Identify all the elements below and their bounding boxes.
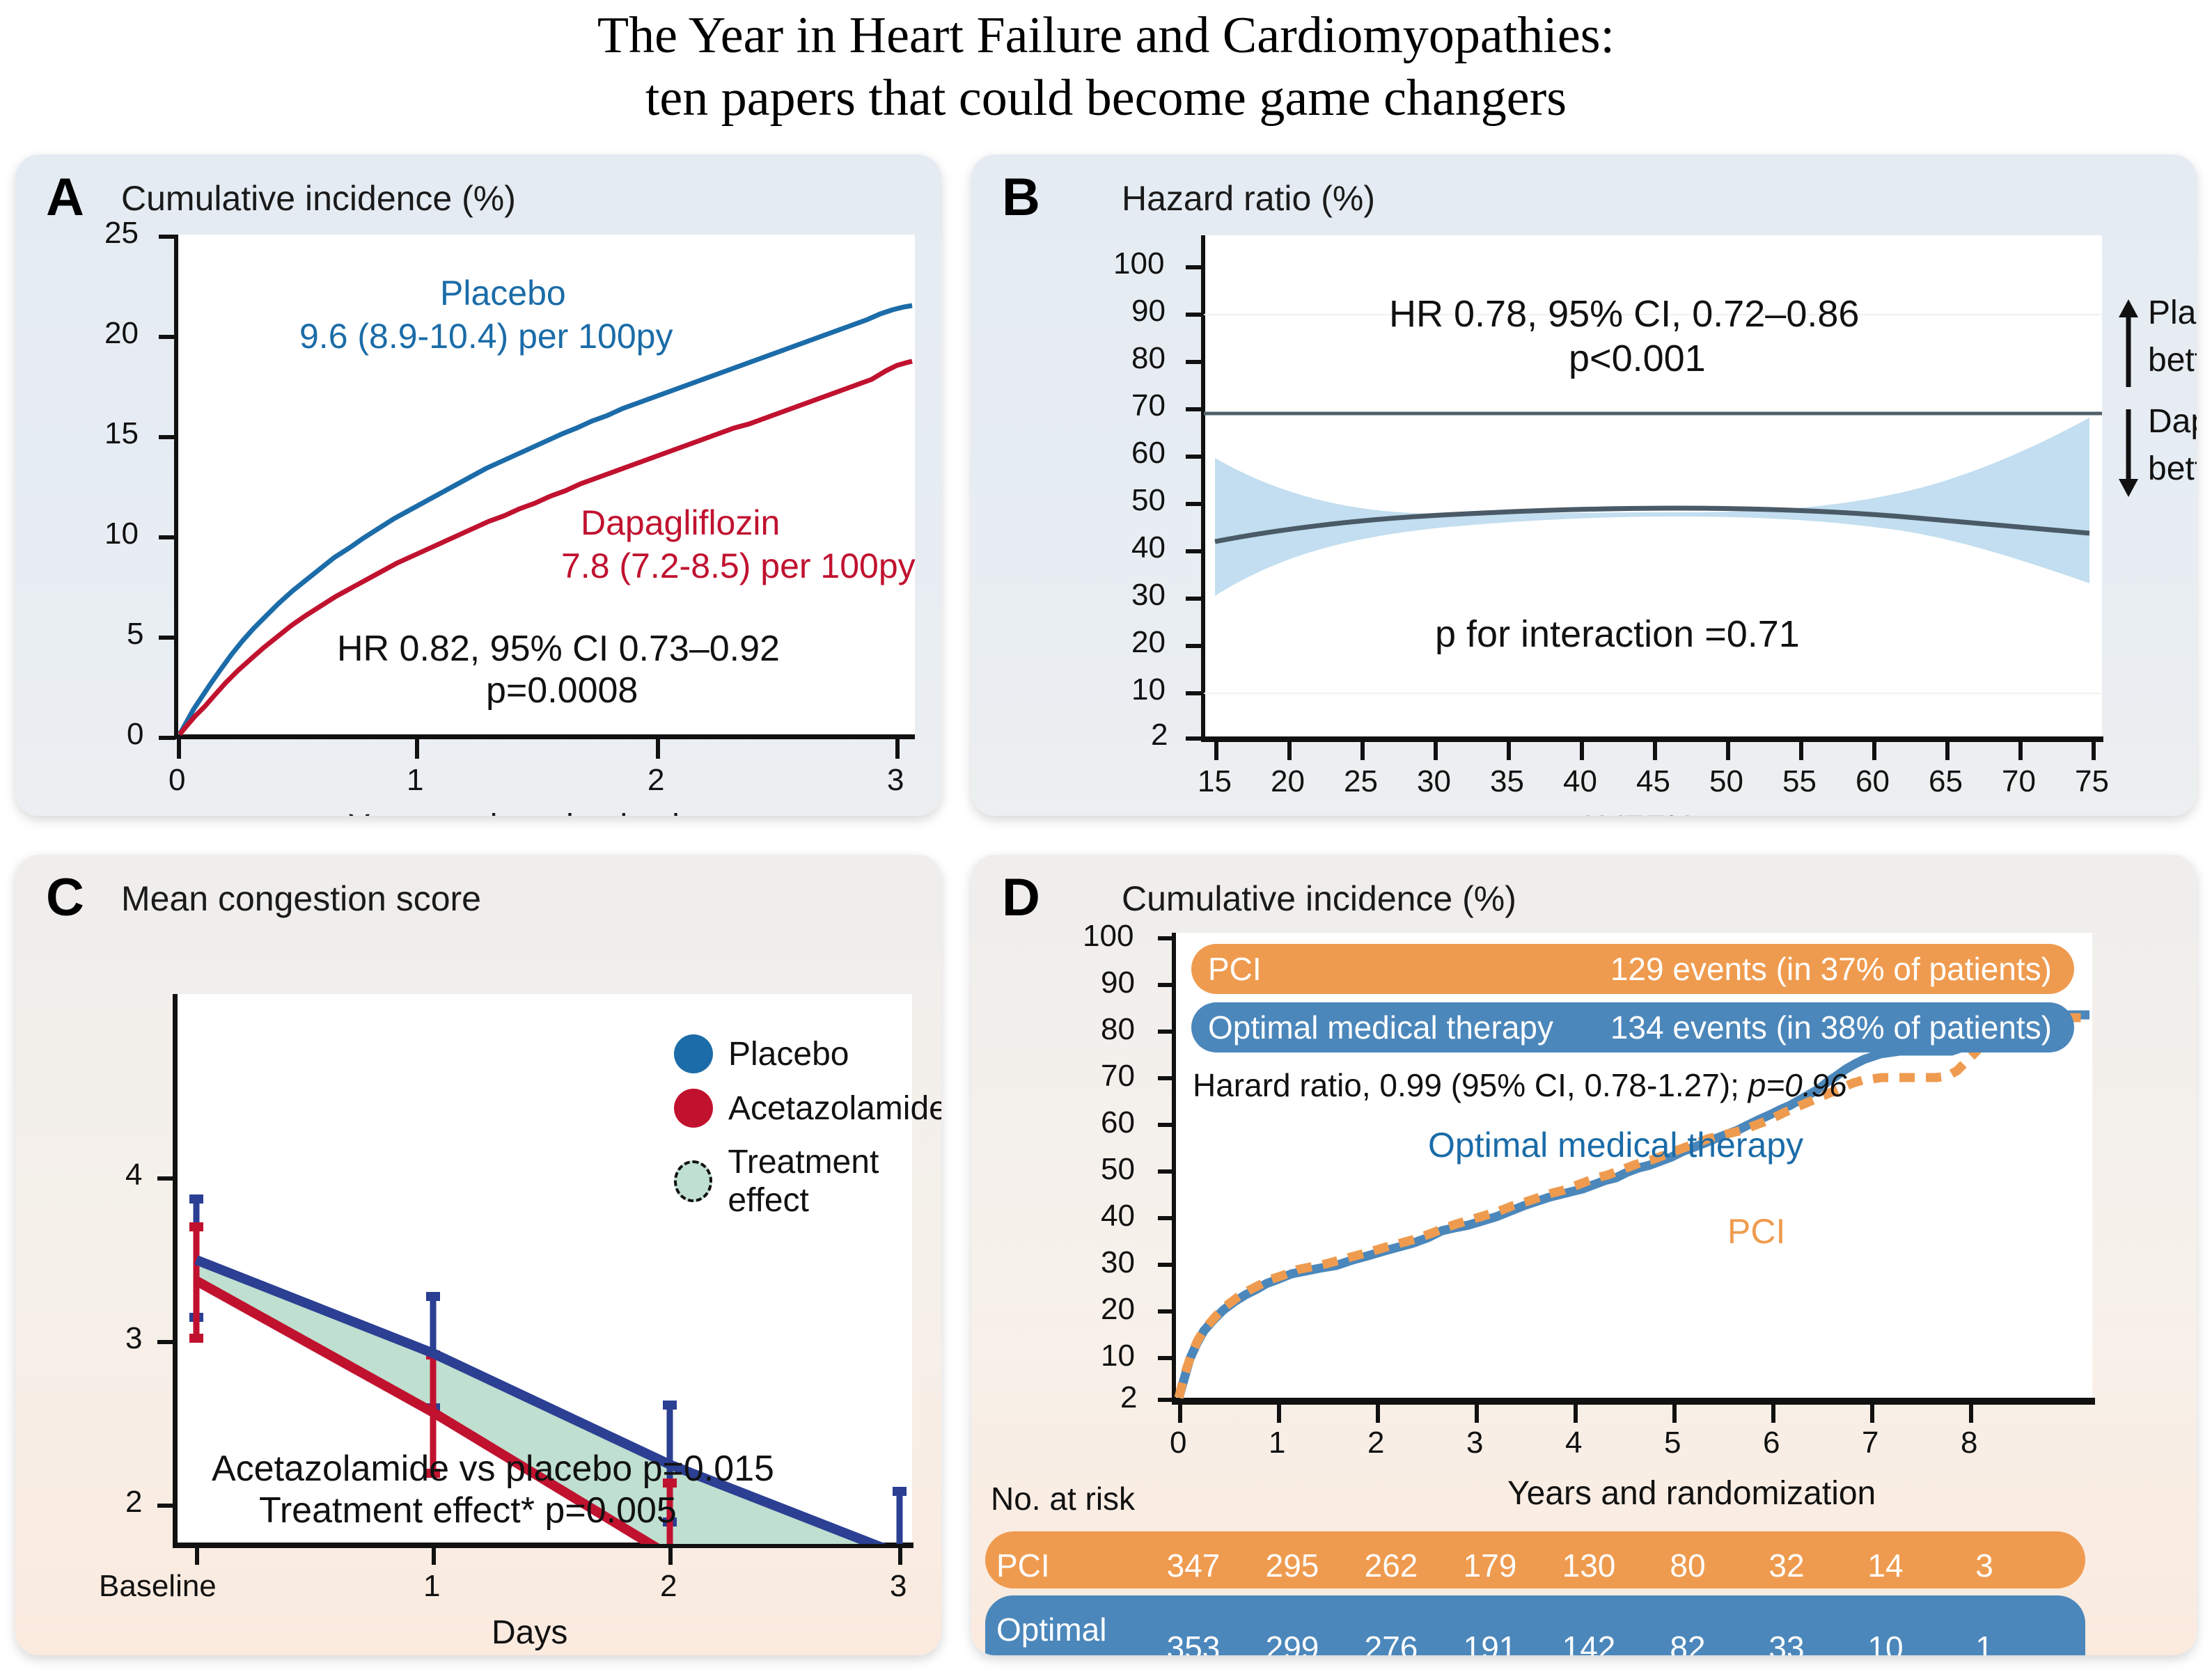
panel-d-omt-pill-events: 134 events (in 38% of patients) — [1610, 1009, 2052, 1046]
panel-b-hr-line-2: p<0.001 — [1569, 337, 1706, 381]
panel-a-ytick — [159, 636, 175, 640]
panel-d-xtick — [1574, 1403, 1578, 1423]
at-risk-cell: 276 — [1342, 1629, 1441, 1655]
panel-d-xtick — [1771, 1403, 1775, 1423]
panel-b-xtick — [1799, 741, 1803, 760]
panel-b-xtick-label: 60 — [1856, 764, 1890, 799]
panel-b-xtick-label: 15 — [1198, 764, 1232, 799]
panel-c-ytick-label: 2 — [125, 1485, 142, 1520]
panel-a-ytick — [159, 535, 175, 539]
panel-d: D Cumulative incidence (%) 100 90 80 70 … — [971, 855, 2197, 1655]
panel-b-ytick — [1186, 597, 1202, 601]
panel-b-xtick-label: 20 — [1271, 764, 1305, 799]
panel-a-xtick — [415, 739, 419, 759]
panel-d-ytick-label: 90 — [1101, 965, 1135, 1000]
panel-b-xtick — [1360, 741, 1365, 760]
panel-d-xtick-label: 8 — [1961, 1426, 1977, 1460]
at-risk-cell: 14 — [1836, 1547, 1935, 1584]
at-risk-cell: 1 — [1935, 1629, 2034, 1655]
panel-a-xtick-label: 1 — [407, 763, 423, 798]
panel-b-xtick — [1945, 741, 1950, 760]
panel-b-xtick — [1214, 741, 1218, 760]
panel-c-ytick — [157, 1176, 174, 1181]
panel-b-xtick-label: 40 — [1563, 764, 1597, 799]
at-risk-cell: 10 — [1836, 1629, 1935, 1655]
panel-b-ytick — [1186, 691, 1202, 695]
panel-b-xtick-label: 70 — [2002, 764, 2036, 799]
legend-placebo-label: Placebo — [728, 1035, 849, 1073]
panel-b-xtick-label: 65 — [1929, 764, 1963, 799]
panel-b-xtick — [2018, 741, 2023, 760]
panel-c-ytick-label: 3 — [125, 1321, 142, 1356]
panel-d-omt-pill: Optimal medical therapy 134 events (in 3… — [1191, 1002, 2074, 1052]
panel-c-xtick — [668, 1547, 673, 1565]
panel-b-xtick — [2092, 741, 2096, 760]
panel-d-xtick-label: 1 — [1269, 1426, 1285, 1460]
title-line-2: ten papers that could become game change… — [0, 67, 2212, 129]
panel-d-xtick — [1870, 1403, 1874, 1423]
panel-d-at-risk-pci-label: PCI — [996, 1547, 1050, 1584]
panel-b-xtick-label: 25 — [1344, 764, 1378, 799]
panel-d-curve-label-omt: Optimal medical therapy — [1428, 1125, 1803, 1166]
panel-d-ytick-label: 70 — [1101, 1059, 1135, 1094]
panel-a-ytick-label: 5 — [127, 617, 143, 652]
panel-d-at-risk-title: No. at risk — [991, 1480, 1135, 1517]
panel-b-ytick — [1186, 549, 1202, 553]
panel-c-annot-line-2: Treatment effect* p=0.005 — [259, 1490, 677, 1532]
at-risk-cell: 347 — [1144, 1547, 1243, 1584]
panel-b-dapagliflozin-better-line-2: better — [2148, 450, 2197, 489]
at-risk-cell: 191 — [1441, 1629, 1539, 1655]
panel-d-xtick-label: 7 — [1862, 1426, 1878, 1460]
panel-b-xtick — [1507, 741, 1511, 760]
panel-c-annot-line-1: Acetazolamide vs placebo p=0.015 — [212, 1448, 774, 1490]
panel-d-ytick — [1158, 1123, 1173, 1127]
at-risk-cell: 299 — [1243, 1629, 1342, 1655]
at-risk-cell: 142 — [1539, 1629, 1638, 1655]
panel-a-xtick — [177, 739, 181, 759]
at-risk-cell: 80 — [1638, 1547, 1737, 1584]
panel-d-xtick-label: 6 — [1763, 1426, 1780, 1460]
panel-b-arrow-up-icon — [2115, 298, 2142, 390]
panel-a-axis-title: Cumulative incidence (%) — [121, 178, 516, 219]
legend-acetazolamide-marker-icon — [674, 1089, 713, 1128]
panel-d-xtick — [1376, 1403, 1380, 1423]
panel-b-ytick-label: 80 — [1131, 341, 1166, 376]
panel-c-legend: Placebo Acetazolamide Treatment effect — [674, 1034, 941, 1220]
panel-d-xtick — [1672, 1403, 1677, 1423]
panel-d-xtick-label: 0 — [1170, 1426, 1186, 1460]
panel-b-ytick-label: 100 — [1113, 246, 1164, 281]
at-risk-cell: 32 — [1737, 1547, 1836, 1584]
panel-d-ytick — [1158, 1169, 1173, 1174]
at-risk-cell: 130 — [1539, 1547, 1638, 1584]
at-risk-cell: 295 — [1243, 1547, 1342, 1584]
panel-a-x-axis-label: Years and randomization — [348, 807, 716, 816]
panel-a-ytick — [159, 435, 175, 439]
panel-d-pci-pill: PCI 129 events (in 37% of patients) — [1191, 944, 2074, 994]
at-risk-cell: 262 — [1342, 1547, 1441, 1584]
panel-a-ytick-label: 15 — [104, 416, 139, 451]
panel-d-ytick-label: 30 — [1101, 1245, 1135, 1280]
panel-b-ytick-label: 60 — [1131, 436, 1166, 471]
panel-b-ytick-label: 30 — [1131, 578, 1166, 613]
panel-d-ytick — [1158, 1309, 1173, 1314]
panel-c-xtick — [432, 1547, 436, 1565]
panel-d-at-risk-omt-values: 353 299 276 191 142 82 33 10 1 — [1144, 1629, 2049, 1655]
panel-b-ytick — [1186, 455, 1202, 459]
panel-d-ytick-label: 100 — [1083, 919, 1134, 954]
panel-a-hr-line-2: p=0.0008 — [486, 670, 638, 712]
at-risk-cell: 179 — [1441, 1547, 1539, 1584]
panel-c-xtick-label: 3 — [890, 1569, 907, 1604]
panel-d-xtick — [1969, 1403, 1973, 1423]
panel-d-pci-pill-label: PCI — [1208, 950, 1262, 988]
panel-a-placebo-label: Placebo — [440, 273, 566, 314]
figure-title: The Year in Heart Failure and Cardiomyop… — [0, 4, 2212, 130]
panel-d-hazard-ratio-text: Harard ratio, 0.99 (95% CI, 0.78-1.27); … — [1193, 1066, 1847, 1104]
panel-d-xtick — [1475, 1403, 1479, 1423]
panel-d-xtick — [1277, 1403, 1281, 1423]
panel-c-x-axis-label: Days — [492, 1614, 567, 1652]
panel-b-ytick — [1186, 407, 1202, 411]
panel-d-ytick-label: 40 — [1101, 1199, 1135, 1233]
panel-d-ytick — [1158, 1398, 1173, 1402]
panel-a-xtick-label: 3 — [887, 763, 904, 798]
panel-d-hazard-ratio-p: p=0.96 — [1748, 1067, 1847, 1103]
panel-b-xtick-label: 55 — [1782, 764, 1817, 799]
panel-b-xtick-label: 45 — [1636, 764, 1670, 799]
panel-a-ytick-label: 10 — [104, 516, 139, 551]
panel-b-hr-line-1: HR 0.78, 95% CI, 0.72–0.86 — [1389, 292, 1859, 337]
panel-c-xtick-label: 1 — [423, 1569, 440, 1604]
panel-b-ytick-label: 90 — [1131, 294, 1166, 329]
panel-b-xtick — [1653, 741, 1657, 760]
panel-d-xtick-label: 4 — [1565, 1426, 1582, 1460]
panel-a-xtick — [895, 739, 900, 759]
panel-b-xtick — [1580, 741, 1584, 760]
panel-b-xtick — [1726, 741, 1730, 760]
panel-c-axis-title: Mean congestion score — [121, 878, 481, 919]
panel-a-xtick-label: 0 — [168, 763, 185, 798]
panel-b-x-axis-label: LVEF% — [1584, 809, 1695, 816]
at-risk-cell: 33 — [1737, 1629, 1836, 1655]
panel-b-ytick-label: 40 — [1131, 530, 1166, 565]
panel-c: C Mean congestion score 2 3 4 Baseline 1… — [15, 855, 941, 1655]
legend-treatment-effect-label: Treatment effect — [728, 1143, 941, 1220]
panel-d-xtick-label: 5 — [1664, 1426, 1681, 1460]
panel-b-ytick-label: 10 — [1131, 672, 1166, 707]
panel-a-ytick — [159, 736, 175, 740]
panel-c-xtick — [195, 1547, 199, 1565]
panel-a-ytick-label: 25 — [104, 216, 139, 251]
panel-b-ytick-label: 2 — [1151, 718, 1168, 752]
panel-b-arrow-down-icon — [2115, 407, 2142, 498]
panel-c-ytick-label: 4 — [125, 1158, 142, 1192]
panel-d-x-axis-label: Years and randomization — [1507, 1474, 1876, 1513]
panel-a-ytick — [159, 335, 175, 339]
panel-b-ytick-label: 50 — [1131, 483, 1166, 518]
panel-b-ytick — [1186, 265, 1202, 269]
panel-c-letter: C — [46, 872, 84, 924]
panel-a-xtick-label: 2 — [648, 763, 664, 798]
panel-a: A Cumulative incidence (%) 0 5 10 15 20 … — [15, 155, 941, 816]
at-risk-cell: 82 — [1638, 1629, 1737, 1655]
panel-d-ytick — [1158, 1356, 1173, 1360]
panel-d-axis-title: Cumulative incidence (%) — [1122, 878, 1516, 919]
panel-d-ytick-label: 50 — [1101, 1152, 1135, 1187]
panel-d-ytick-label: 10 — [1101, 1339, 1135, 1373]
at-risk-cell: 353 — [1144, 1629, 1243, 1655]
panel-c-xtick-label: Baseline — [99, 1569, 217, 1604]
panel-b-xtick-label: 75 — [2075, 764, 2109, 799]
panel-d-omt-pill-label: Optimal medical therapy — [1208, 1009, 1553, 1046]
panel-b-ytick — [1186, 736, 1202, 741]
legend-placebo-marker-icon — [674, 1034, 713, 1073]
panel-a-hr-line-1: HR 0.82, 95% CI 0.73–0.92 — [337, 628, 780, 670]
panel-b-ytick — [1186, 313, 1202, 317]
panel-b-placebo-better-line-1: Placebo — [2148, 294, 2197, 333]
panel-b-xtick — [1872, 741, 1876, 760]
panel-d-ytick — [1158, 1076, 1173, 1080]
panel-b-ytick-label: 20 — [1131, 625, 1166, 660]
panel-a-ytick — [159, 235, 175, 239]
panel-d-xtick-label: 2 — [1367, 1426, 1384, 1460]
panel-d-letter: D — [1002, 872, 1040, 924]
panel-d-at-risk-pci-values: 347 295 262 179 130 80 32 14 3 — [1144, 1547, 2049, 1584]
panel-d-xtick — [1178, 1403, 1182, 1423]
panel-b-placebo-better-line-2: better — [2148, 341, 2197, 381]
panel-d-ytick-label: 60 — [1101, 1105, 1135, 1140]
panel-b-xtick-label: 30 — [1417, 764, 1451, 799]
panel-a-letter: A — [46, 171, 84, 224]
panel-d-ytick — [1158, 936, 1173, 940]
panel-a-dapagliflozin-label: Dapagliflozin — [581, 503, 780, 544]
panel-d-ytick — [1158, 1030, 1173, 1034]
panel-d-ytick — [1158, 1263, 1173, 1267]
panel-c-xtick — [898, 1547, 902, 1565]
panel-b-xtick-label: 35 — [1490, 764, 1524, 799]
legend-acetazolamide-label: Acetazolamide — [728, 1089, 941, 1128]
title-line-1: The Year in Heart Failure and Cardiomyop… — [597, 7, 1615, 64]
panel-c-xtick-label: 2 — [660, 1569, 677, 1604]
panel-b-ytick — [1186, 644, 1202, 648]
panel-a-xtick — [656, 739, 660, 759]
panel-d-ytick — [1158, 983, 1173, 987]
panel-a-ytick-label: 20 — [104, 316, 139, 351]
panel-d-pci-pill-events: 129 events (in 37% of patients) — [1610, 950, 2052, 988]
panel-d-ytick-label: 80 — [1101, 1012, 1135, 1047]
panel-b-ytick-label: 70 — [1131, 388, 1166, 423]
panel-a-dapagliflozin-rate: 7.8 (7.2-8.5) per 100py — [561, 546, 916, 587]
panel-b-dapagliflozin-better-line-1: Dapagliflozin — [2148, 402, 2197, 442]
panel-d-curve-label-pci: PCI — [1727, 1211, 1785, 1252]
panel-d-ytick-label: 20 — [1101, 1292, 1135, 1327]
panel-b-letter: B — [1002, 171, 1040, 224]
panel-d-ytick — [1158, 1216, 1173, 1220]
legend-treatment-effect-marker-icon — [674, 1160, 712, 1202]
panel-a-ytick-label: 0 — [127, 717, 143, 752]
panel-d-ytick-label: 2 — [1120, 1380, 1137, 1415]
at-risk-cell: 3 — [1935, 1547, 2034, 1584]
panel-c-ytick — [157, 1504, 174, 1508]
panel-b: B Hazard ratio (%) 100 90 80 70 60 50 40… — [971, 155, 2197, 816]
panel-b-axis-title: Hazard ratio (%) — [1122, 178, 1375, 219]
panel-d-xtick-label: 3 — [1466, 1426, 1483, 1460]
at-risk-omt-label-line-1: Optimal — [996, 1611, 1106, 1648]
panel-b-ytick — [1186, 360, 1202, 364]
panel-b-xtick — [1287, 741, 1292, 760]
panel-c-ytick — [157, 1340, 174, 1344]
panel-b-p-interaction: p for interaction =0.71 — [1435, 613, 1800, 657]
panel-b-xtick — [1434, 741, 1438, 760]
panel-a-placebo-rate: 9.6 (8.9-10.4) per 100py — [299, 316, 673, 357]
panel-d-hazard-ratio-main: Harard ratio, 0.99 (95% CI, 0.78-1.27); — [1193, 1067, 1748, 1103]
panel-b-ytick — [1186, 502, 1202, 506]
panel-b-xtick-label: 50 — [1709, 764, 1743, 799]
